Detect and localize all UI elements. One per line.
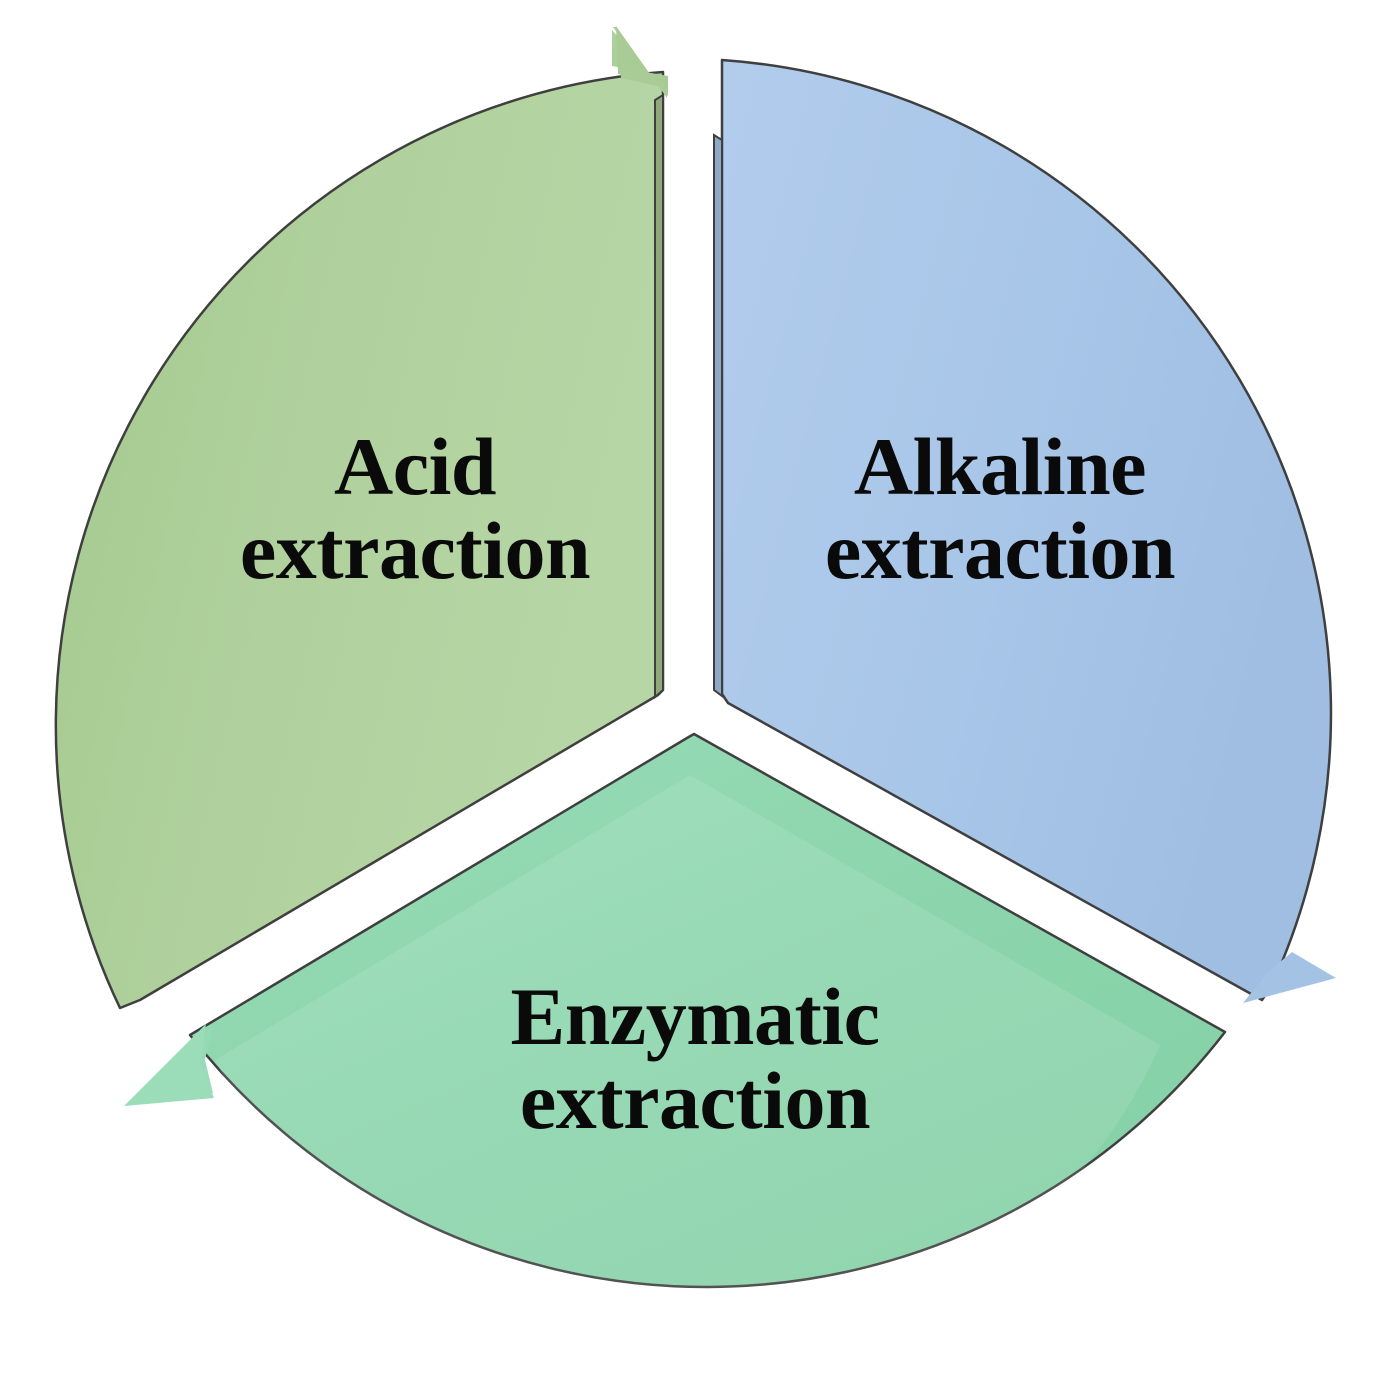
cycle-diagram: Acid extraction Alkaline extraction Enzy… bbox=[0, 0, 1379, 1400]
segment-enzymatic-label: Enzymatic extraction bbox=[435, 975, 955, 1142]
segment-acid-inner-wall bbox=[655, 95, 663, 697]
cycle-diagram-svg bbox=[0, 0, 1379, 1400]
segment-acid-label: Acid extraction bbox=[150, 425, 680, 592]
segment-gaps bbox=[667, 30, 716, 700]
segment-enzymatic-arrow-wedge bbox=[124, 1024, 214, 1106]
segment-alkaline-label: Alkaline extraction bbox=[740, 425, 1260, 592]
